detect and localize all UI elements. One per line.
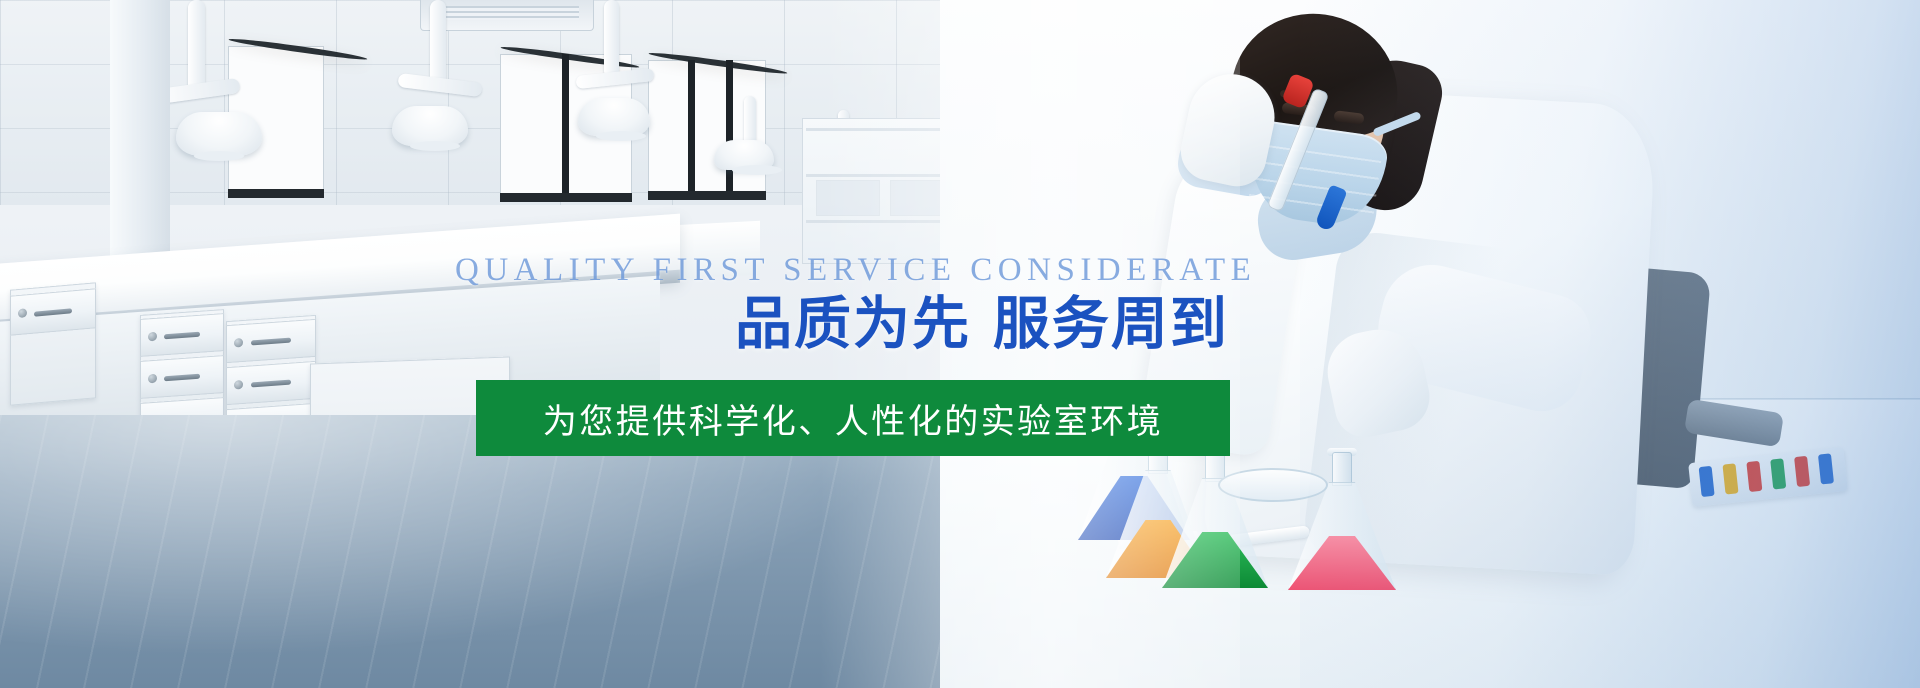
subtitle-bar: 为您提供科学化、人性化的实验室环境 — [476, 380, 1230, 456]
headline-title: 品质为先 服务周到 — [735, 296, 1229, 353]
subtitle-text: 为您提供科学化、人性化的实验室环境 — [543, 394, 1164, 443]
text-overlay: QUALITY FIRST SERVICE CONSIDERATE 品质为先 服… — [0, 0, 1920, 688]
english-tagline: QUALITY FIRST SERVICE CONSIDERATE — [455, 252, 1256, 289]
hero-banner: QUALITY FIRST SERVICE CONSIDERATE 品质为先 服… — [0, 0, 1920, 688]
